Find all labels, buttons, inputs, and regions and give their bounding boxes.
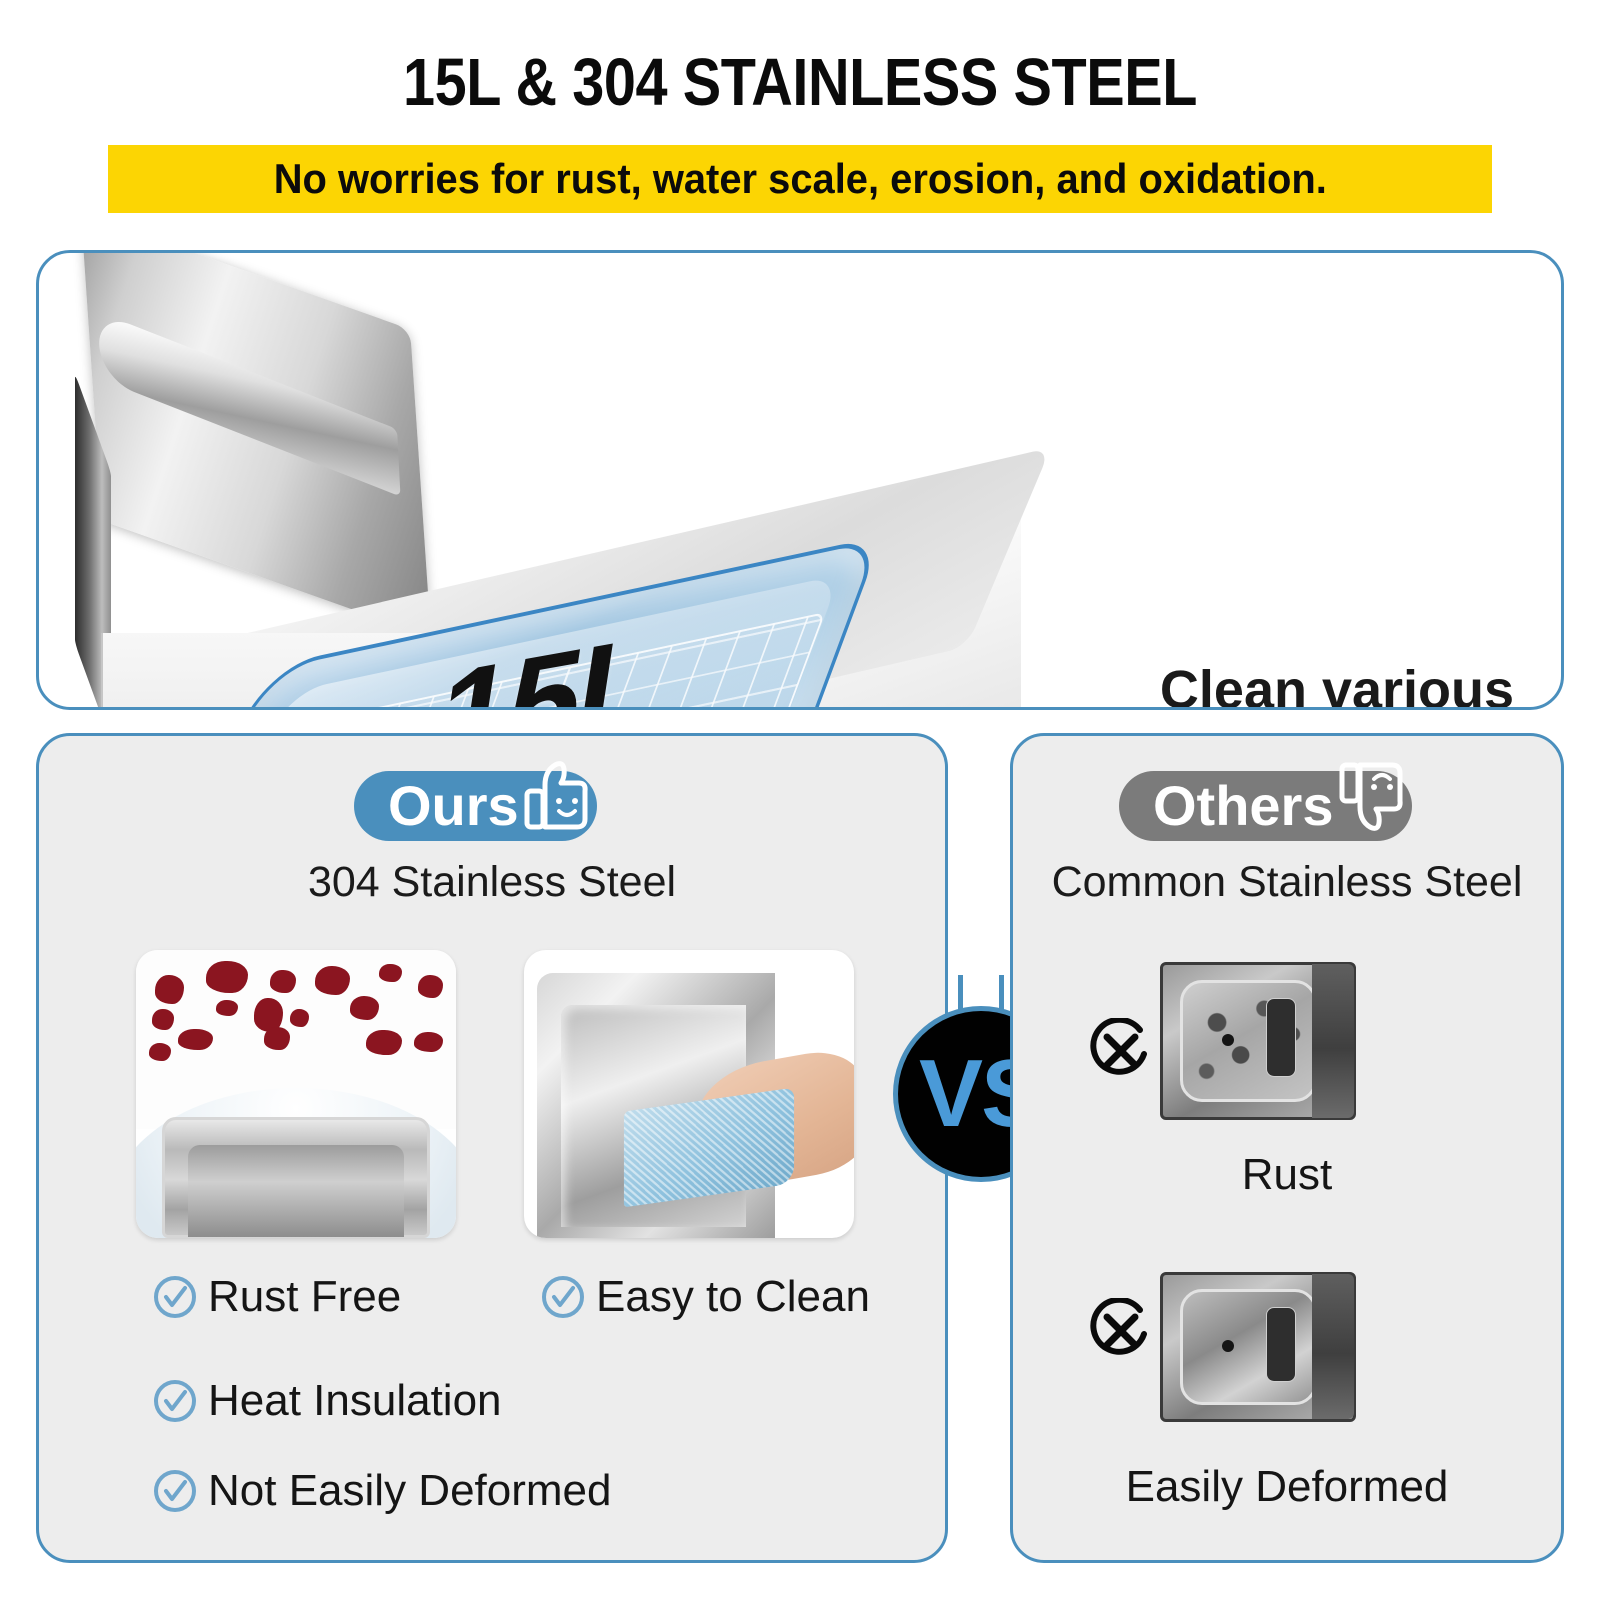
feature-item-not-easily-deformed: Not Easily Deformed (152, 1466, 611, 1516)
ours-badge: Ours (354, 771, 597, 841)
rust-free-image (136, 950, 456, 1238)
others-item-label-deformed: Easily Deformed (1010, 1462, 1564, 1512)
box-side-panel (1312, 1274, 1354, 1419)
easy-to-clean-image (524, 950, 854, 1238)
ours-subtitle: 304 Stainless Steel (36, 858, 948, 907)
others-badge-label: Others (1153, 778, 1334, 834)
page-title: 15L & 304 STAINLESS STEEL (112, 44, 1488, 121)
feature-label: Not Easily Deformed (208, 1466, 611, 1516)
feature-item-easy-to-clean: Easy to Clean (540, 1272, 870, 1322)
others-badge: Others (1119, 771, 1412, 841)
rust-box-image (1160, 962, 1356, 1120)
others-item-label-rust: Rust (1010, 1150, 1564, 1200)
feature-label: Heat Insulation (208, 1376, 502, 1426)
ultrasonic-cleaner-illustration: 15L 1.The ultrasonic cleaner can only tu… (39, 253, 1561, 707)
box-side-panel (1312, 964, 1354, 1118)
thumbs-up-icon (519, 757, 589, 835)
stainless-tank-photo (162, 1117, 431, 1238)
thumbs-down-icon (1334, 757, 1404, 835)
others-subtitle: Common Stainless Steel (1002, 858, 1572, 907)
callout-text: Clean various items at one time (1107, 657, 1564, 710)
deformed-interior (1180, 1289, 1317, 1404)
feature-label: Easy to Clean (596, 1272, 870, 1322)
check-circle-icon (540, 1274, 586, 1320)
feature-item-rust-free: Rust Free (152, 1272, 401, 1322)
check-circle-icon (152, 1468, 198, 1514)
feature-label: Rust Free (208, 1272, 401, 1322)
cross-circle-icon (1088, 1298, 1154, 1364)
hero-product-panel: 15L 1.The ultrasonic cleaner can only tu… (36, 250, 1564, 710)
rusty-interior (1180, 980, 1317, 1102)
box-side-slot (1266, 1307, 1296, 1382)
feature-item-heat-insulation: Heat Insulation (152, 1376, 502, 1426)
ours-badge-label: Ours (388, 778, 519, 834)
check-circle-icon (152, 1378, 198, 1424)
check-circle-icon (152, 1274, 198, 1320)
hero-banner: No worries for rust, water scale, erosio… (108, 145, 1492, 213)
deformed-box-image (1160, 1272, 1356, 1422)
callout-anchor-dot (851, 707, 873, 710)
cross-circle-icon (1088, 1018, 1154, 1084)
hero-banner-text: No worries for rust, water scale, erosio… (273, 155, 1326, 203)
callout-line-1: Clean various (1107, 657, 1564, 710)
box-side-slot (1266, 998, 1296, 1077)
